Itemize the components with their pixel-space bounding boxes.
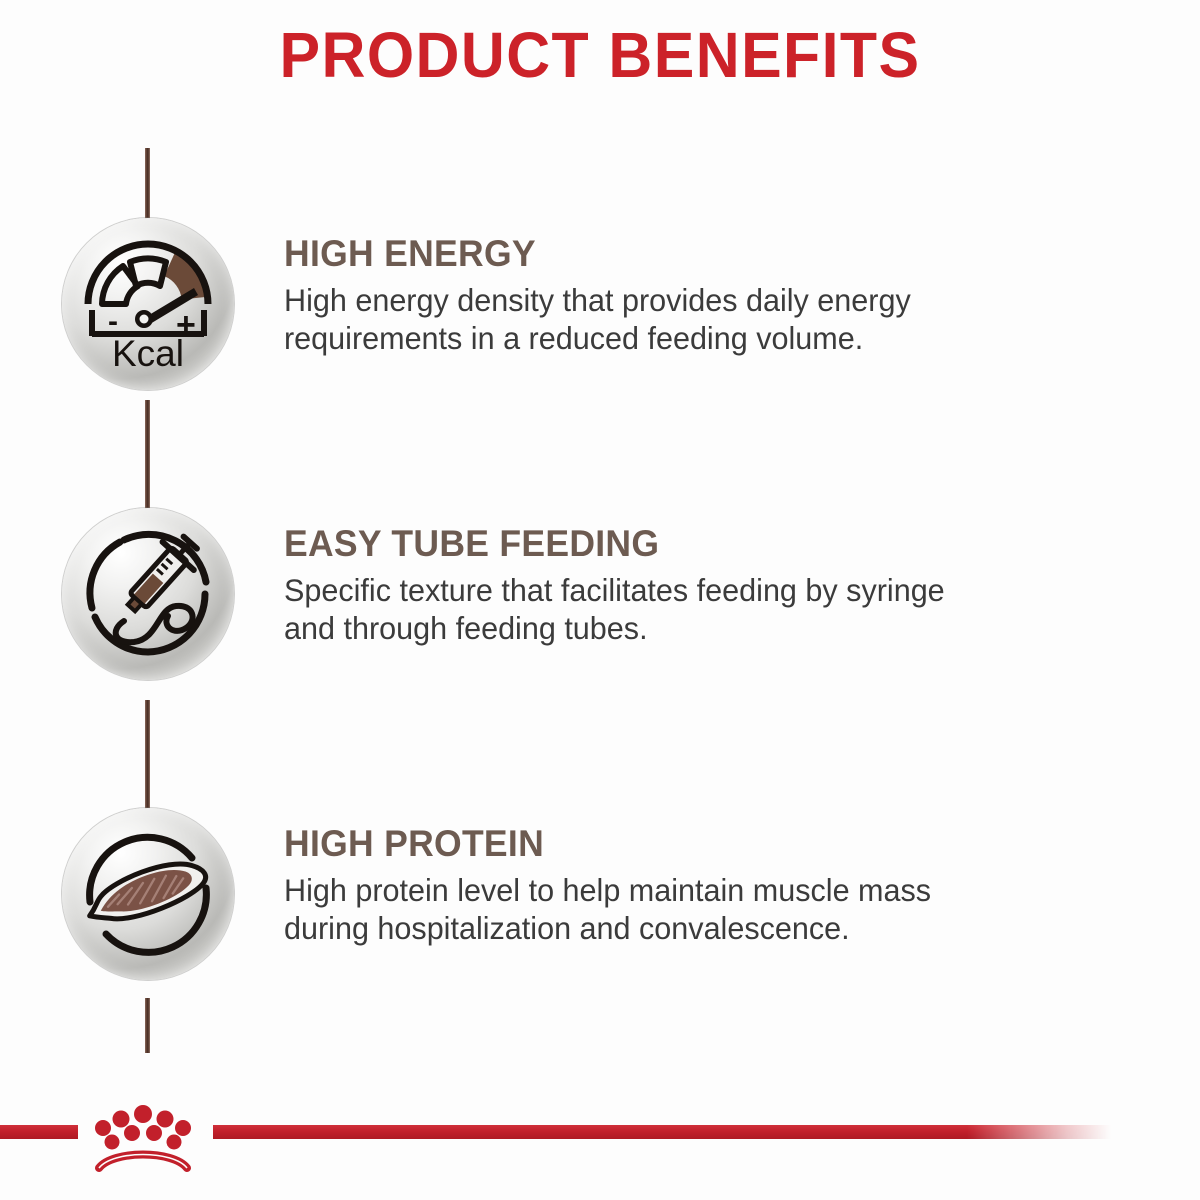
connector-line-segment <box>145 148 150 228</box>
footer-rule-right <box>213 1125 1111 1139</box>
connector-line-segment <box>145 700 150 816</box>
benefit-heading: EASY TUBE FEEDING <box>284 524 1062 565</box>
footer-rule-left <box>0 1125 78 1139</box>
connector-line-segment <box>145 400 150 516</box>
benefit-text-block: HIGH ENERGY High energy density that pro… <box>284 234 1094 358</box>
royal-canin-crown-logo <box>83 1100 203 1180</box>
benefit-body: Specific texture that facilitates feedin… <box>284 571 1070 648</box>
benefit-heading: HIGH ENERGY <box>284 234 1062 275</box>
kcal-gauge-icon: - + Kcal <box>62 218 234 390</box>
benefit-text-block: EASY TUBE FEEDING Specific texture that … <box>284 524 1094 648</box>
benefit-body: High protein level to help maintain musc… <box>284 871 1070 948</box>
syringe-tube-icon <box>62 508 234 680</box>
benefit-heading: HIGH PROTEIN <box>284 824 1062 865</box>
benefit-body: High energy density that provides daily … <box>284 281 1070 358</box>
product-benefits-page: PRODUCT BENEFITS <box>0 0 1200 1200</box>
footer <box>0 1114 1200 1154</box>
muscle-fiber-icon <box>62 808 234 980</box>
connector-line-segment <box>145 998 150 1053</box>
benefit-text-block: HIGH PROTEIN High protein level to help … <box>284 824 1094 948</box>
page-title: PRODUCT BENEFITS <box>30 22 1170 89</box>
kcal-text-label: Kcal <box>112 333 184 374</box>
